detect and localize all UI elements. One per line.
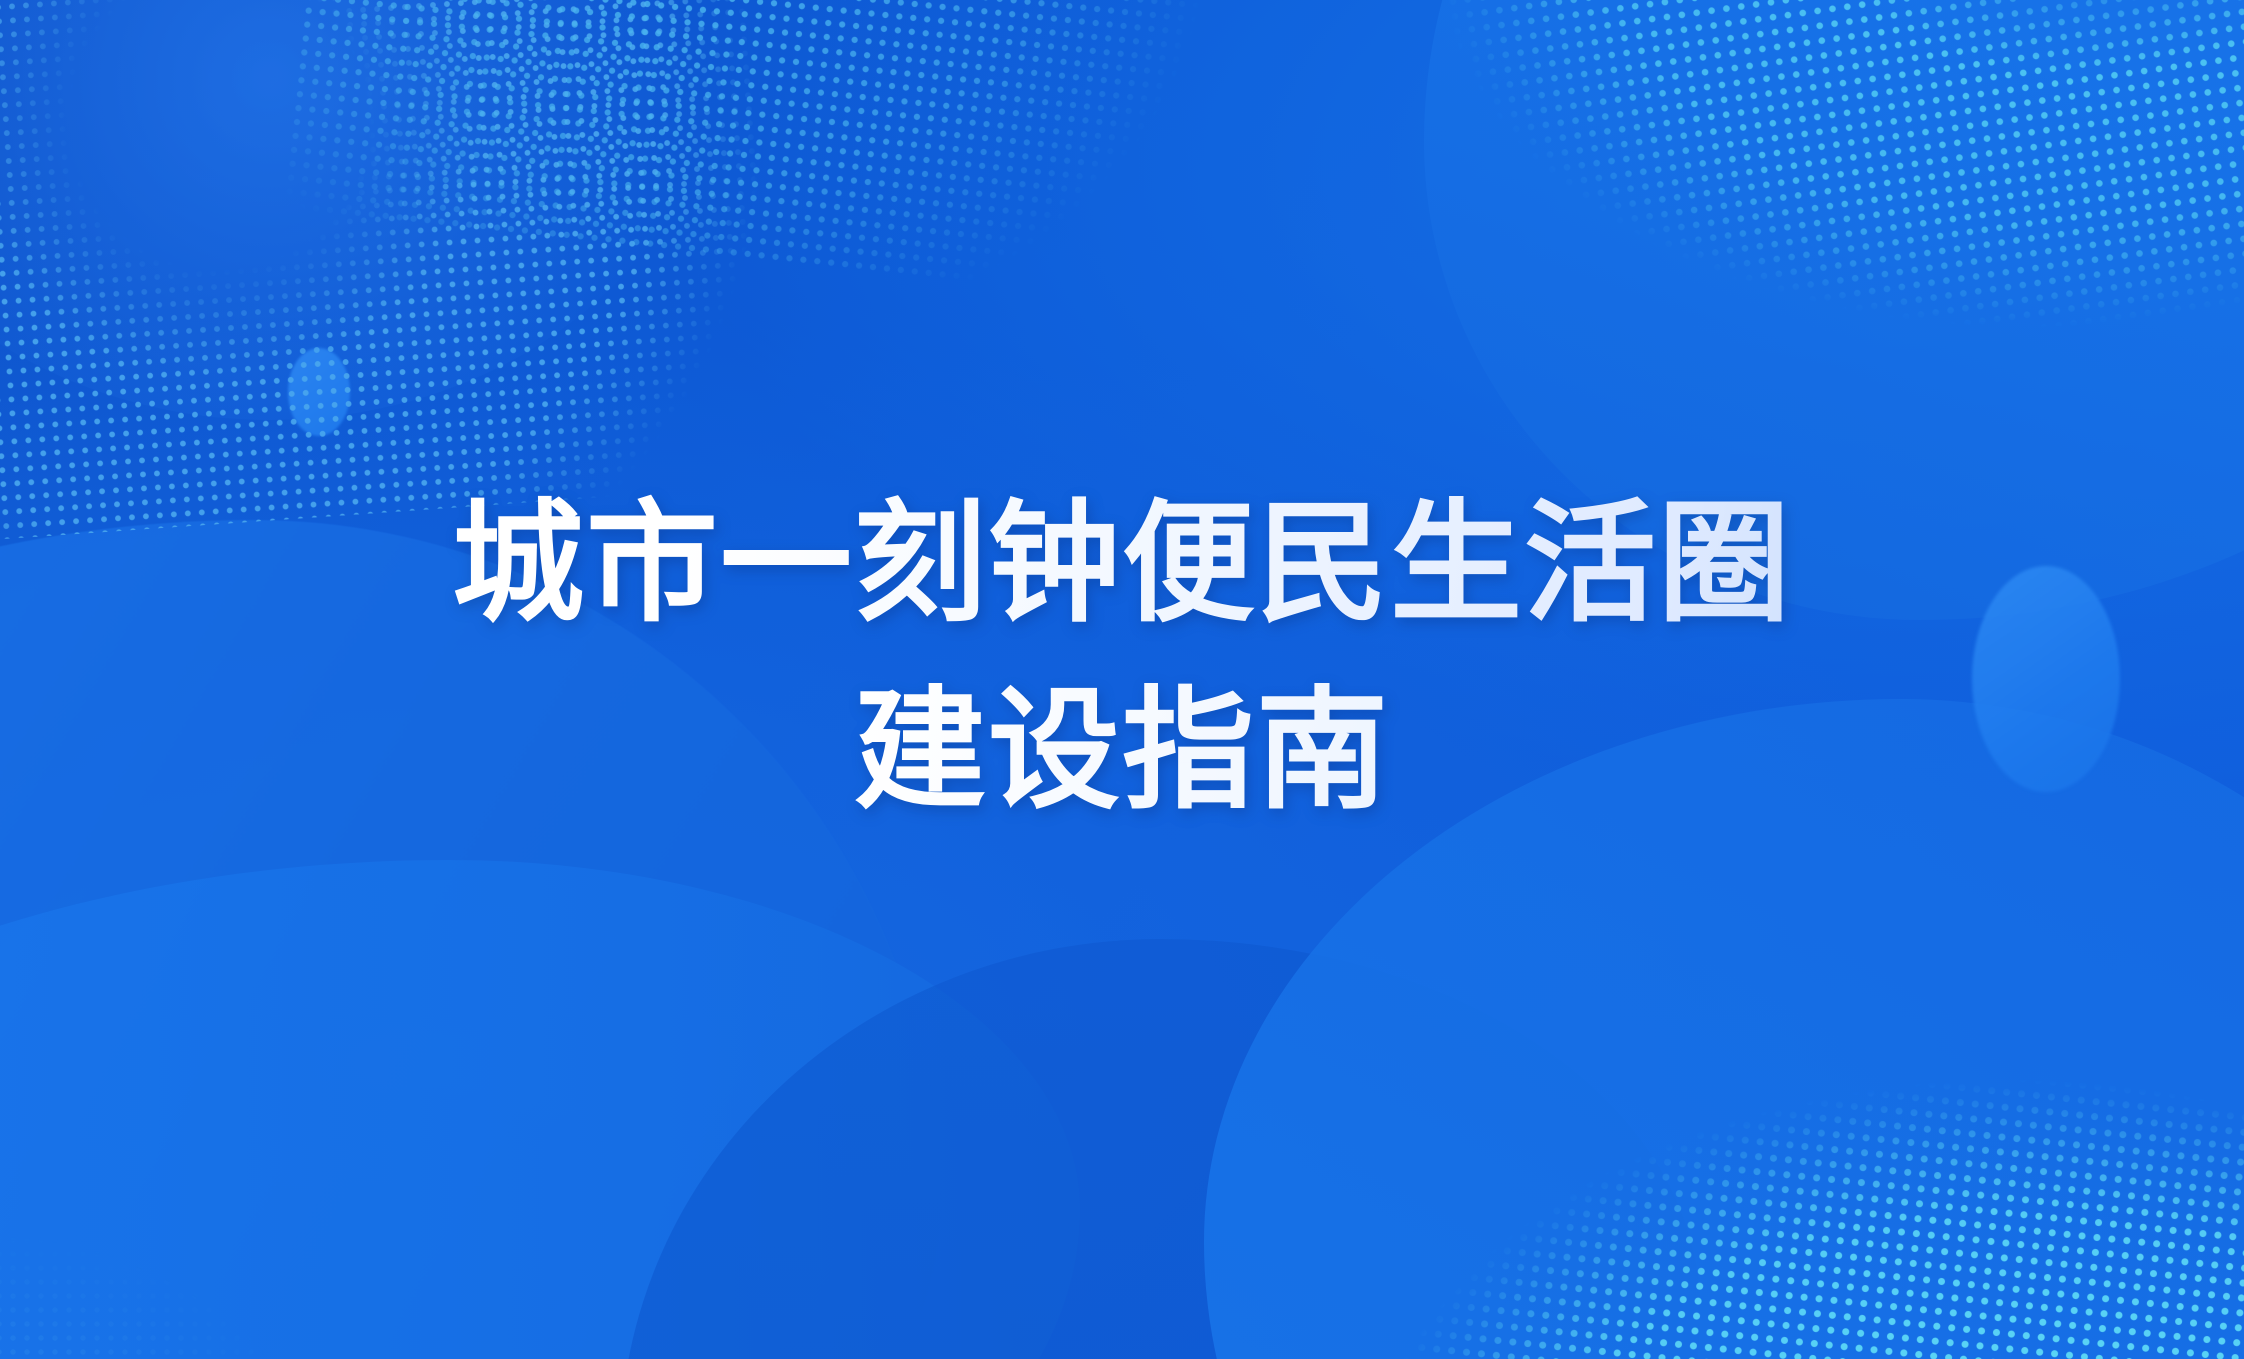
banner-title-line-1: 城市一刻钟便民生活圈: [0, 470, 2244, 657]
banner-title-line-2: 建设指南: [0, 657, 2244, 844]
banner-canvas: 城市一刻钟便民生活圈 建设指南: [0, 0, 2244, 1359]
banner-title: 城市一刻钟便民生活圈 建设指南: [0, 470, 2244, 845]
bottom-left-halftone-dots: [0, 1149, 400, 1359]
